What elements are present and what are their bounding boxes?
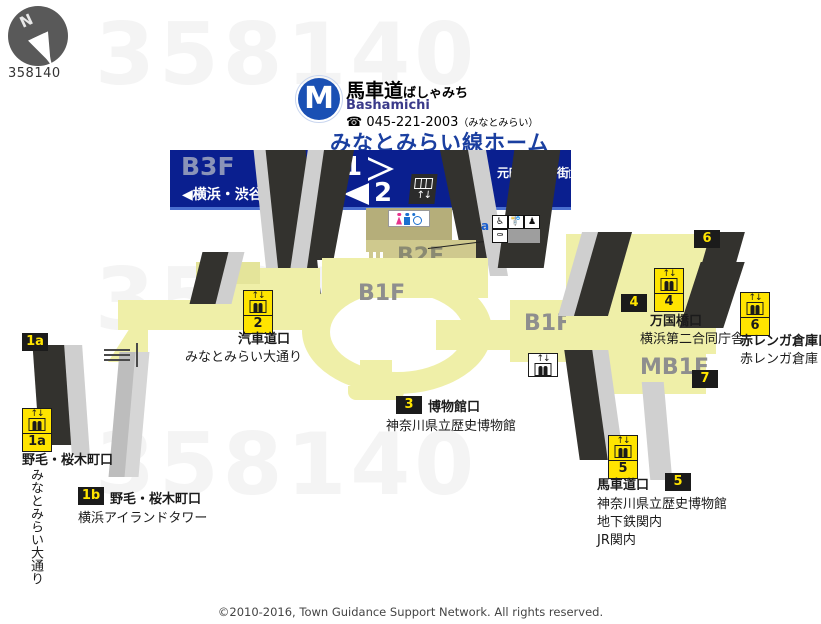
exit-4-sub: 横浜第二合同庁舎 xyxy=(640,328,744,347)
stairs-divider-left xyxy=(136,343,138,367)
elevator-badge-4-number: 4 xyxy=(655,293,683,311)
exit-badge-4-small[interactable]: 4 xyxy=(621,294,647,312)
elevator-icon: ↑↓ xyxy=(529,354,557,376)
exit-3-name: 博物館口 xyxy=(428,396,480,415)
logo-ring xyxy=(295,75,343,123)
exit-1a-sub: みなとみらい大通り xyxy=(26,468,45,585)
minatomirai-line-logo: M xyxy=(298,78,340,120)
exit-1a-name: 野毛・桜木町口 xyxy=(22,449,113,468)
escalator-arrows: ↑↓ xyxy=(416,191,432,201)
exit-badge-5-small[interactable]: 5 xyxy=(665,473,691,491)
exit-6-sub: 赤レンガ倉庫 xyxy=(740,348,818,367)
station-name-en: Bashamichi xyxy=(346,98,430,113)
exit-badge-1a-top[interactable]: 1a xyxy=(22,333,48,351)
exit-2-sub: みなとみらい大通り xyxy=(185,346,302,365)
exit-5-sub3: JR関内 xyxy=(597,529,636,548)
floor-label-b3f: B3F xyxy=(181,152,235,181)
elevator-icon: ↑↓ xyxy=(23,409,51,433)
elevator-badge-5[interactable]: ↑↓ 5 xyxy=(608,435,638,479)
baby-bed-icon: 🚏 xyxy=(508,215,524,229)
toilet-sign xyxy=(388,210,430,227)
exit-2-name: 汽車道口 xyxy=(238,328,290,347)
corridor-b1f-left xyxy=(118,300,318,330)
elevator-icon: ↑↓ xyxy=(741,293,769,317)
elevator-badge-4[interactable]: ↑↓ 4 xyxy=(654,268,684,312)
exit-badge-7[interactable]: 7 xyxy=(692,370,718,388)
toilet-male-icon xyxy=(404,213,411,225)
direction-label-left: ◀横浜・渋谷 xyxy=(182,184,263,204)
compass-north-label: N xyxy=(17,10,36,32)
toilet-female-icon xyxy=(396,213,403,225)
ostomate-icon: ♟ xyxy=(524,215,540,229)
exit-badge-1b[interactable]: 1b xyxy=(78,487,104,505)
escalator-icon: ↑↓ xyxy=(408,174,437,204)
stairs-hatch-left xyxy=(104,349,130,363)
baby-chair-icon: ⚰ xyxy=(492,229,508,243)
footer-copyright: ©2010-2016, Town Guidance Support Networ… xyxy=(0,605,821,619)
elevator-badge-b1f-right[interactable]: ↑↓ xyxy=(528,353,558,377)
elevator-icon: ↑↓ xyxy=(244,291,272,315)
escalator-window xyxy=(414,178,433,189)
map-id-label: 358140 xyxy=(8,66,61,81)
elevator-icon: ↑↓ xyxy=(609,436,637,460)
exit-4-name: 万国橋口 xyxy=(650,310,702,329)
floor-label-b1f-center: B1F xyxy=(358,281,405,306)
exit-badge-6-small[interactable]: 6 xyxy=(694,230,720,248)
wheelchair-icon xyxy=(412,213,423,225)
wheelchair-icon: ♿ xyxy=(492,215,508,229)
grid-filler-2 xyxy=(524,229,540,243)
compass-rose: N xyxy=(8,6,68,66)
track-2-arrow-icon xyxy=(344,183,369,205)
exit-1b-sub: 横浜アイランドタワー xyxy=(78,507,207,526)
stair-exit5b-rail xyxy=(642,382,673,480)
elevator-badge-1a[interactable]: ↑↓ 1a xyxy=(22,408,52,452)
exit-5-sub2: 地下鉄関内 xyxy=(597,511,662,530)
exit-1b-name: 野毛・桜木町口 xyxy=(110,488,201,507)
elevator-icon: ↑↓ xyxy=(655,269,683,293)
exit-3-sub: 神奈川県立歴史博物館 xyxy=(386,415,516,434)
exit-6-name: 赤レンガ倉庫口 xyxy=(740,330,821,349)
grid-filler-1 xyxy=(508,229,524,243)
track-number-2: 2 xyxy=(374,178,392,208)
track-1-arrow-inner xyxy=(368,160,388,178)
exit-badge-3[interactable]: 3 xyxy=(396,396,422,414)
exit-5-sub: 神奈川県立歴史博物館 xyxy=(597,493,727,512)
exit-5-name: 馬車道口 xyxy=(597,474,649,493)
facility-icon-grid: ♿ 🚏 ♟ ⚰ xyxy=(492,215,540,243)
